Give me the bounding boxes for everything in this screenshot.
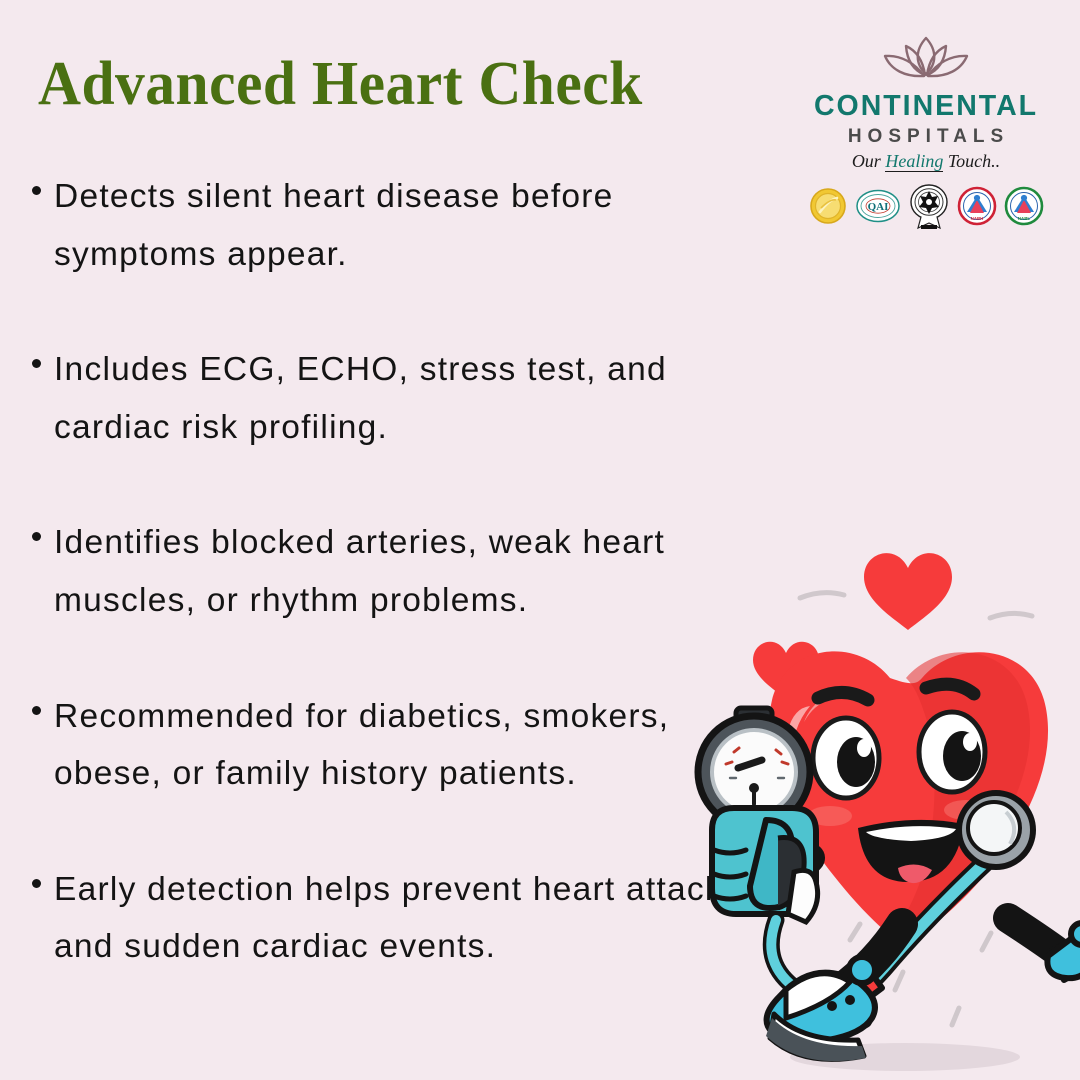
svg-text:QAI: QAI — [868, 201, 889, 213]
list-item: Early detection helps prevent heart atta… — [32, 861, 762, 976]
logo-brand-subtitle: HOSPITALS — [800, 126, 1057, 148]
floating-heart-large — [864, 553, 952, 630]
qai-accreditation-badge: QAI — [855, 187, 901, 225]
list-item-text: Recommended for diabetics, smokers, obes… — [54, 688, 762, 803]
list-item: Recommended for diabetics, smokers, obes… — [32, 688, 762, 803]
iso-starburst-badge — [908, 182, 950, 230]
list-item-text: Identifies blocked arteries, weak heart … — [54, 514, 762, 629]
tagline-suffix: Touch.. — [943, 151, 1000, 171]
svg-text:NABH: NABH — [971, 216, 984, 221]
nabl-accreditation-badge: NABL — [1004, 186, 1044, 226]
svg-text:NABL: NABL — [1018, 216, 1031, 221]
list-item-text: Detects silent heart disease before symp… — [54, 168, 762, 283]
brand-logo: CONTINENTAL HOSPITALS Our Healing Touch.… — [795, 32, 1057, 230]
list-item: Identifies blocked arteries, weak heart … — [32, 514, 762, 629]
nabh-accreditation-badge: NABH — [957, 186, 997, 226]
accreditation-badge-row: QAI — [795, 182, 1057, 230]
bullet-dot-icon — [32, 186, 41, 195]
page-title: Advanced Heart Check — [38, 52, 643, 117]
tagline-prefix: Our — [852, 151, 886, 171]
bullet-dot-icon — [32, 706, 41, 715]
logo-brand-name: CONTINENTAL — [795, 90, 1057, 123]
benefits-list: Detects silent heart disease before symp… — [32, 168, 762, 976]
bullet-dot-icon — [32, 532, 41, 541]
list-item-text: Early detection helps prevent heart atta… — [54, 861, 762, 976]
logo-tagline: Our Healing Touch.. — [795, 151, 1057, 172]
list-item-text: Includes ECG, ECHO, stress test, and car… — [54, 341, 762, 456]
poster-canvas: Advanced Heart Check CONTINENTAL HOSPITA… — [0, 0, 1080, 1080]
mascot-eyebrow-left — [818, 692, 868, 700]
tagline-highlight: Healing — [885, 151, 943, 172]
list-item: Detects silent heart disease before symp… — [32, 168, 762, 283]
running-heart-mascot — [690, 520, 1080, 1080]
bullet-dot-icon — [32, 359, 41, 368]
bullet-dot-icon — [32, 879, 41, 888]
gold-medal-badge — [808, 186, 848, 226]
list-item: Includes ECG, ECHO, stress test, and car… — [32, 341, 762, 456]
lotus-icon — [795, 32, 1057, 92]
